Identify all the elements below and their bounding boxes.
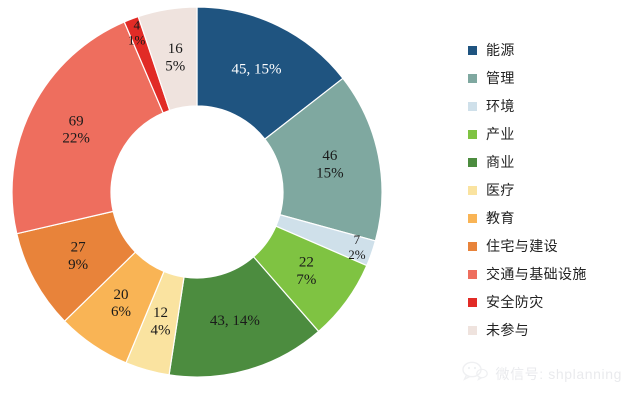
legend-item[interactable]: 住宅与建设: [468, 232, 640, 260]
legend-color-swatch: [468, 186, 477, 195]
legend-item-label: 管理: [486, 68, 515, 88]
donut-chart-figure: 45, 15%4615%72%227%43, 14%124%206%279%69…: [0, 0, 640, 400]
legend-item[interactable]: 安全防灾: [468, 288, 640, 316]
legend-color-swatch: [468, 326, 477, 335]
watermark-text: 微信号: shplanning: [495, 364, 622, 384]
watermark: 微信号: shplanning: [462, 361, 622, 386]
legend-color-swatch: [468, 242, 477, 251]
legend-color-swatch: [468, 214, 477, 223]
legend-color-swatch: [468, 102, 477, 111]
legend-item-label: 医疗: [486, 180, 515, 200]
legend-item[interactable]: 交通与基础设施: [468, 260, 640, 288]
donut-slices-group: [12, 7, 382, 377]
legend-color-swatch: [468, 298, 477, 307]
legend-item-label: 交通与基础设施: [486, 264, 587, 284]
legend-item[interactable]: 未参与: [468, 316, 640, 344]
legend-item-label: 未参与: [486, 320, 529, 340]
legend-item-label: 住宅与建设: [486, 236, 558, 256]
legend-item-label: 安全防灾: [486, 292, 544, 312]
legend-item[interactable]: 医疗: [468, 176, 640, 204]
wechat-bubble-icon: [462, 361, 488, 386]
legend-color-swatch: [468, 158, 477, 167]
legend-color-swatch: [468, 74, 477, 83]
legend-item-label: 商业: [486, 152, 515, 172]
legend-item[interactable]: 管理: [468, 64, 640, 92]
donut-chart-plot-area: 45, 15%4615%72%227%43, 14%124%206%279%69…: [0, 0, 440, 400]
legend-color-swatch: [468, 270, 477, 279]
legend-item[interactable]: 能源: [468, 36, 640, 64]
legend-item-label: 教育: [486, 208, 515, 228]
legend-item[interactable]: 产业: [468, 120, 640, 148]
legend-item[interactable]: 环境: [468, 92, 640, 120]
legend-item-label: 环境: [486, 96, 515, 116]
legend-item-label: 能源: [486, 40, 515, 60]
legend-color-swatch: [468, 130, 477, 139]
legend-item[interactable]: 教育: [468, 204, 640, 232]
legend-item-label: 产业: [486, 124, 515, 144]
chart-legend: 能源管理环境产业商业医疗教育住宅与建设交通与基础设施安全防灾未参与: [440, 0, 640, 400]
legend-color-swatch: [468, 46, 477, 55]
legend-item[interactable]: 商业: [468, 148, 640, 176]
donut-chart-svg: 45, 15%4615%72%227%43, 14%124%206%279%69…: [0, 0, 440, 400]
